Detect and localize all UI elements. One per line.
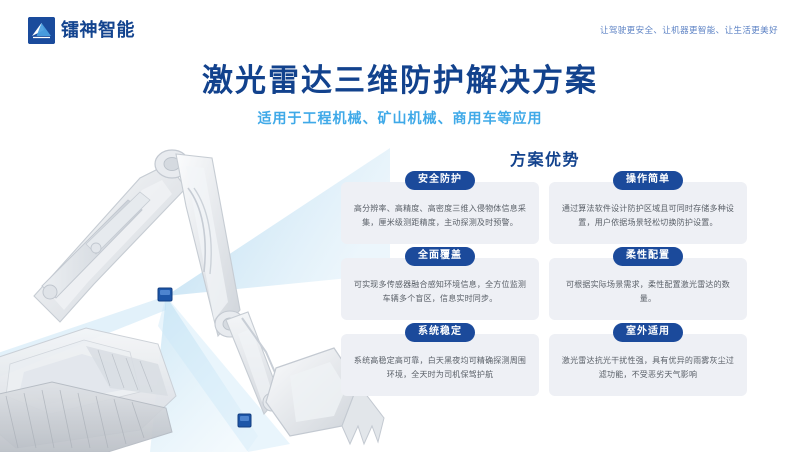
- advantages-card-grid: 安全防护 高分辨率、高精度、高密度三维入侵物体信息采集，厘米级测距精度，主动探测…: [341, 182, 747, 396]
- advantage-card-outdoor-ready[interactable]: 室外适用 激光雷达抗光干扰性强，具有优异的雨雾灰尘过滤功能，不受恶劣天气影响: [549, 334, 747, 396]
- brand-tagline: 让驾驶更安全、让机器更智能、让生活更美好: [600, 24, 778, 36]
- excavator-lidar-illustration: [0, 96, 390, 452]
- card-pill-label: 安全防护: [405, 171, 475, 190]
- page-header: 镭神智能 让驾驶更安全、让机器更智能、让生活更美好: [0, 0, 800, 60]
- page-subtitle: 适用于工程机械、矿山机械、商用车等应用: [0, 110, 800, 127]
- lidar-sensor-arm: [158, 288, 172, 301]
- advantage-card-easy-operation[interactable]: 操作简单 通过算法软件设计防护区域且可同时存储多种设置，用户依据场景轻松切换防护…: [549, 182, 747, 244]
- card-body-text: 可实现多传感器融合感知环境信息，全方位监测车辆多个盲区，信息实时同步。: [352, 278, 528, 306]
- card-pill-label: 全面覆盖: [405, 247, 475, 266]
- brand-logo[interactable]: 镭神智能: [28, 17, 135, 44]
- card-body-text: 可根据实际场景需求，柔性配置激光雷达的数量。: [560, 278, 736, 306]
- excavator-tracks: [0, 346, 172, 452]
- lidar-sensor-bucket: [238, 414, 251, 427]
- card-pill-label: 室外适用: [613, 323, 683, 342]
- card-body-text: 激光雷达抗光干扰性强，具有优异的雨雾灰尘过滤功能，不受恶劣天气影响: [560, 354, 736, 382]
- hero-title-block: 激光雷达三维防护解决方案 适用于工程机械、矿山机械、商用车等应用: [0, 62, 800, 127]
- slide-root: 镭神智能 让驾驶更安全、让机器更智能、让生活更美好 激光雷达三维防护解决方案 适…: [0, 0, 800, 452]
- logo-text: 镭神智能: [61, 21, 135, 39]
- card-pill-label: 柔性配置: [613, 247, 683, 266]
- scan-fan-upper: [0, 148, 390, 380]
- card-body-text: 通过算法软件设计防护区域且可同时存储多种设置，用户依据场景轻松切换防护设置。: [560, 202, 736, 230]
- excavator-boom: [34, 150, 189, 322]
- excavator-body: [0, 328, 176, 448]
- leishen-logo-icon: [28, 17, 55, 44]
- advantages-heading: 方案优势: [345, 146, 745, 170]
- scan-fan-lower: [150, 296, 290, 452]
- excavator-dipper: [226, 312, 281, 414]
- advantage-card-full-coverage[interactable]: 全面覆盖 可实现多传感器融合感知环境信息，全方位监测车辆多个盲区，信息实时同步。: [341, 258, 539, 320]
- page-title: 激光雷达三维防护解决方案: [0, 62, 800, 101]
- advantage-card-flexible-config[interactable]: 柔性配置 可根据实际场景需求，柔性配置激光雷达的数量。: [549, 258, 747, 320]
- advantage-card-safety[interactable]: 安全防护 高分辨率、高精度、高密度三维入侵物体信息采集，厘米级测距精度，主动探测…: [341, 182, 539, 244]
- card-body-text: 系统高稳定高可靠，白天黑夜均可精确探测周围环境，全天时为司机保驾护航: [352, 354, 528, 382]
- card-body-text: 高分辨率、高精度、高密度三维入侵物体信息采集，厘米级测距精度，主动探测及时预警。: [352, 202, 528, 230]
- card-pill-label: 操作简单: [613, 171, 683, 190]
- card-pill-label: 系统稳定: [405, 323, 475, 342]
- advantage-card-system-stability[interactable]: 系统稳定 系统高稳定高可靠，白天黑夜均可精确探测周围环境，全天时为司机保驾护航: [341, 334, 539, 396]
- excavator-stick: [176, 154, 245, 337]
